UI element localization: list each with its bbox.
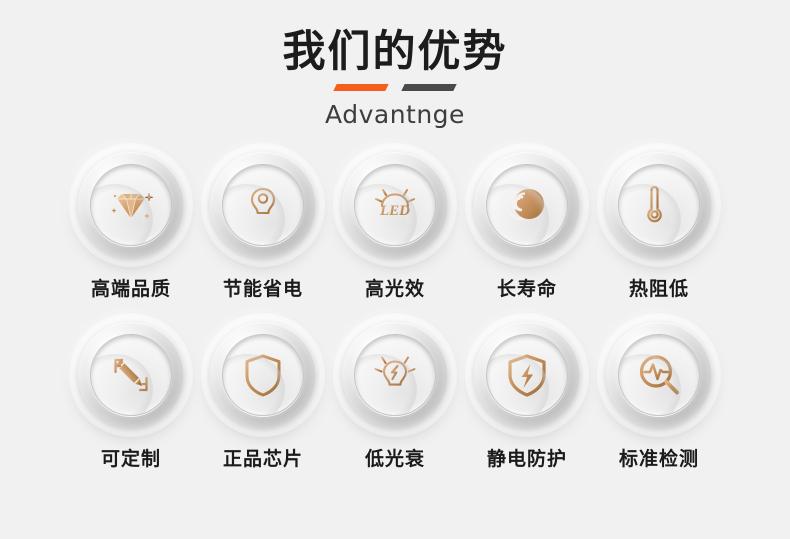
feature-button[interactable] <box>78 152 184 258</box>
title-divider <box>335 84 455 93</box>
svg-text:LED: LED <box>379 203 410 219</box>
feature-row: 高端品质 <box>0 152 790 300</box>
feature-item-diamond[interactable]: 高端品质 <box>65 152 197 300</box>
feature-label: 低光衰 <box>365 448 425 470</box>
feature-label: 高端品质 <box>91 278 171 300</box>
feature-label: 长寿命 <box>497 278 557 300</box>
feature-label: 正品芯片 <box>223 448 303 470</box>
feature-item-luminous-efficacy[interactable]: LED 高光效 <box>329 152 461 300</box>
divider-bar-gray <box>401 84 456 91</box>
thermometer-minus-icon <box>619 165 699 245</box>
spiral-circles-icon <box>487 165 567 245</box>
magnifier-pulse-icon <box>619 335 699 415</box>
feature-button-face <box>90 334 172 416</box>
feature-button-face <box>486 334 568 416</box>
feature-label: 标准检测 <box>619 448 699 470</box>
divider-bar-orange <box>333 84 388 91</box>
feature-item-standard-testing[interactable]: 标准检测 <box>593 322 725 470</box>
feature-button-face <box>222 334 304 416</box>
page-header: 我们的优势 Advantnge <box>0 0 790 130</box>
feature-button-face <box>618 334 700 416</box>
feature-button[interactable] <box>78 322 184 428</box>
feature-button[interactable]: LED <box>342 152 448 258</box>
page-title: 我们的优势 <box>0 0 790 78</box>
feature-button-face <box>90 164 172 246</box>
feature-button-face <box>618 164 700 246</box>
feature-label: 节能省电 <box>223 278 303 300</box>
shield-bolt-icon <box>487 335 567 415</box>
pencil-brackets-icon <box>91 335 171 415</box>
feature-button-face: LED <box>354 164 436 246</box>
feature-label: 静电防护 <box>487 448 567 470</box>
feature-item-long-life[interactable]: 长寿命 <box>461 152 593 300</box>
feature-label: 可定制 <box>101 448 161 470</box>
feature-item-customizable[interactable]: 可定制 <box>65 322 197 470</box>
feature-button[interactable] <box>606 322 712 428</box>
bulb-bolt-rays-icon <box>355 335 435 415</box>
feature-button-face <box>222 164 304 246</box>
feature-row: 可定制 <box>0 322 790 470</box>
feature-button[interactable] <box>210 152 316 258</box>
feature-item-low-lumen-decay[interactable]: 低光衰 <box>329 322 461 470</box>
feature-button-face <box>354 334 436 416</box>
feature-button-face <box>486 164 568 246</box>
feature-item-genuine-chip[interactable]: 正品芯片 <box>197 322 329 470</box>
feature-label: 高光效 <box>365 278 425 300</box>
led-sun-icon: LED <box>355 165 435 245</box>
shield-zheng-icon <box>223 335 303 415</box>
feature-item-low-thermal-resistance[interactable]: 热阻低 <box>593 152 725 300</box>
page-subtitle: Advantnge <box>0 93 790 130</box>
diamond-icon <box>91 165 171 245</box>
lightbulb-icon <box>223 165 303 245</box>
feature-item-esd-protection[interactable]: 静电防护 <box>461 322 593 470</box>
feature-button[interactable] <box>474 152 580 258</box>
feature-button[interactable] <box>210 322 316 428</box>
feature-label: 热阻低 <box>629 278 689 300</box>
feature-button[interactable] <box>342 322 448 428</box>
feature-button[interactable] <box>474 322 580 428</box>
feature-grid: 高端品质 <box>0 152 790 470</box>
feature-item-energy-saving[interactable]: 节能省电 <box>197 152 329 300</box>
feature-button[interactable] <box>606 152 712 258</box>
